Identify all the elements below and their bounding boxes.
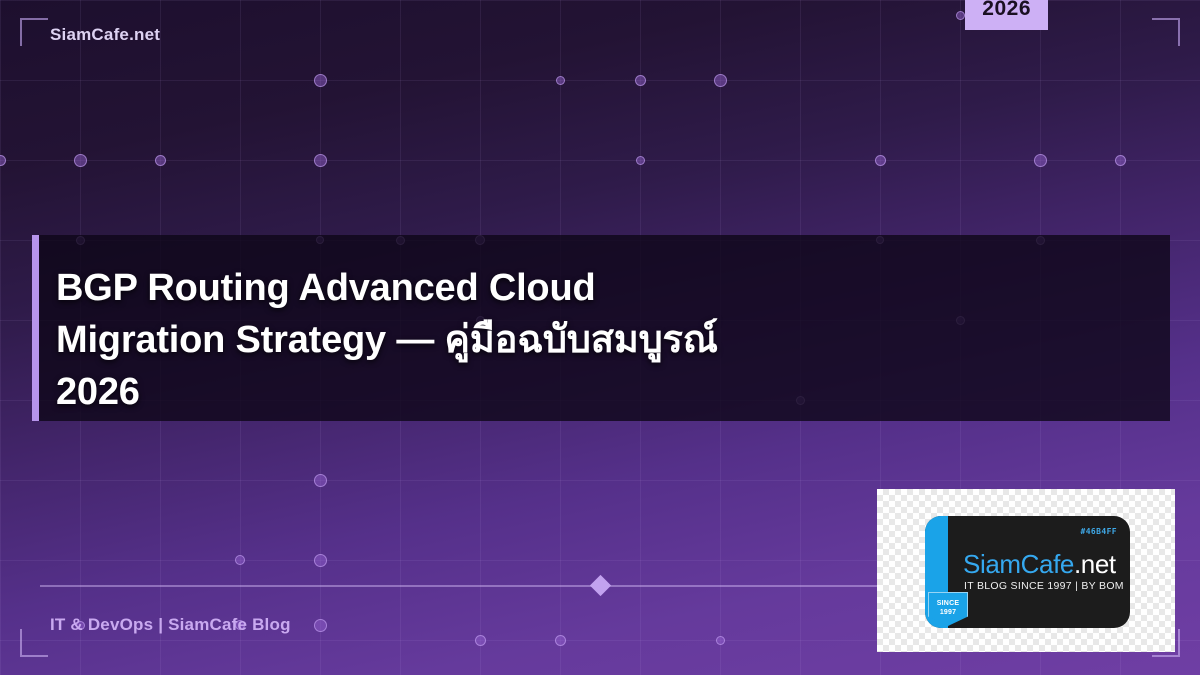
network-node	[1115, 155, 1126, 166]
ribbon-line-1: SINCE	[929, 600, 967, 609]
logo-inner-panel: #46B4FF SiamCafe.net IT BLOG SINCE 1997 …	[925, 516, 1130, 628]
network-node	[1034, 154, 1047, 167]
network-node	[314, 554, 327, 567]
year-badge: 2026	[965, 0, 1048, 30]
network-node	[556, 76, 565, 85]
corner-bracket-bottom-left	[20, 629, 48, 657]
network-node	[0, 155, 6, 166]
logo-hex-code: #46B4FF	[1080, 527, 1117, 536]
hero-banner: SiamCafe.net 2026 BGP Routing Advanced C…	[0, 0, 1200, 675]
network-node	[875, 155, 886, 166]
title-accent-bar	[32, 235, 39, 421]
logo-card: #46B4FF SiamCafe.net IT BLOG SINCE 1997 …	[877, 489, 1175, 652]
network-node	[235, 555, 245, 565]
logo-tagline: IT BLOG SINCE 1997 | BY BOM	[964, 580, 1124, 592]
network-node	[314, 154, 327, 167]
diamond-marker-icon	[590, 575, 611, 596]
network-node	[635, 75, 646, 86]
network-node	[74, 154, 87, 167]
ribbon-line-2: 1997	[929, 609, 967, 618]
footer-label: IT & DevOps | SiamCafe Blog	[50, 615, 291, 635]
network-node	[555, 635, 566, 646]
network-node	[956, 11, 965, 20]
logo-wordmark-primary: SiamCafe	[963, 549, 1074, 579]
network-node	[314, 474, 327, 487]
logo-wordmark: SiamCafe.net	[963, 549, 1116, 580]
page-title: BGP Routing Advanced Cloud Migration Str…	[56, 262, 756, 418]
network-node	[636, 156, 645, 165]
network-node	[155, 155, 166, 166]
network-node	[716, 636, 725, 645]
network-node	[314, 74, 327, 87]
corner-bracket-top-left	[20, 18, 48, 46]
logo-wordmark-suffix: .net	[1074, 549, 1116, 579]
brand-name: SiamCafe.net	[50, 25, 160, 45]
network-node	[475, 635, 486, 646]
corner-bracket-top-right	[1152, 18, 1180, 46]
network-node	[714, 74, 727, 87]
network-node	[314, 619, 327, 632]
